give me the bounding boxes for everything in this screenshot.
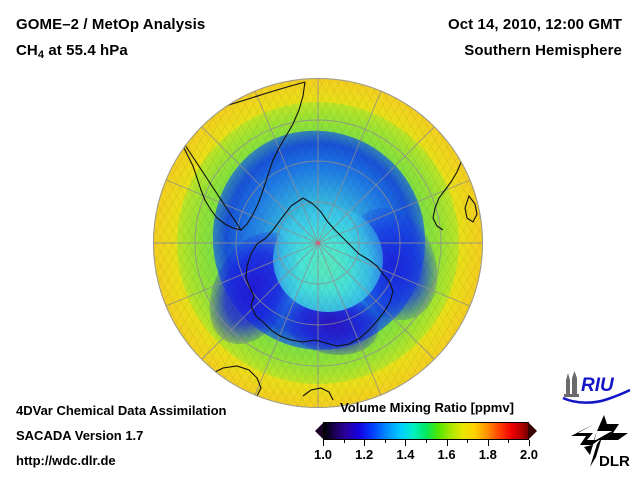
colorbar-tick-labels: 1.01.21.41.61.82.0 <box>315 447 537 467</box>
colorbar-minor-tick <box>344 440 345 443</box>
colorbar-minor-tick <box>385 440 386 443</box>
colorbar-major-tick <box>447 440 448 446</box>
colorbar-major-tick <box>529 440 530 446</box>
colorbar-gradient <box>323 422 529 440</box>
version-label: SACADA Version 1.7 <box>16 428 143 443</box>
instrument-title: GOME–2 / MetOp Analysis <box>16 16 205 33</box>
colorbar-tick-label: 2.0 <box>520 447 538 462</box>
colorbar-ticks <box>315 440 537 447</box>
website-url[interactable]: http://wdc.dlr.de <box>16 453 116 468</box>
colorbar-major-tick <box>364 440 365 446</box>
globe-limb <box>153 78 483 408</box>
colorbar-tick-label: 1.2 <box>355 447 373 462</box>
colorbar-tick-label: 1.6 <box>438 447 456 462</box>
riu-wordmark: RIU <box>581 375 615 396</box>
species-suffix: at 55.4 hPa <box>44 42 128 59</box>
colorbar-major-tick <box>323 440 324 446</box>
colorbar-major-tick <box>488 440 489 446</box>
figure-canvas: GOME–2 / MetOp Analysis CH4 at 55.4 hPa … <box>0 0 640 480</box>
colorbar-tick-label: 1.0 <box>314 447 332 462</box>
colorbar-minor-tick <box>508 440 509 443</box>
hemisphere-label: Southern Hemisphere <box>464 42 622 59</box>
datetime-label: Oct 14, 2010, 12:00 GMT <box>448 16 622 33</box>
species-level-title: CH4 at 55.4 hPa <box>16 42 128 61</box>
colorbar-minor-tick <box>426 440 427 443</box>
colorbar-major-tick <box>405 440 406 446</box>
cathedral-spires-icon <box>564 371 579 397</box>
dlr-wordmark: DLR <box>599 453 630 470</box>
colorbar-tick-label: 1.4 <box>396 447 414 462</box>
species-prefix: CH <box>16 42 38 59</box>
colorbar-title: Volume Mixing Ratio [ppmv] <box>316 400 538 415</box>
colorbar <box>315 422 537 440</box>
colorbar-minor-tick <box>467 440 468 443</box>
dlr-logo[interactable]: DLR <box>566 414 632 470</box>
riu-logo[interactable]: RIU <box>560 370 632 404</box>
polar-map <box>153 78 483 408</box>
assimilation-method-label: 4DVar Chemical Data Assimilation <box>16 403 227 418</box>
colorbar-tick-label: 1.8 <box>479 447 497 462</box>
colorbar-extend-high-arrow <box>528 422 537 440</box>
